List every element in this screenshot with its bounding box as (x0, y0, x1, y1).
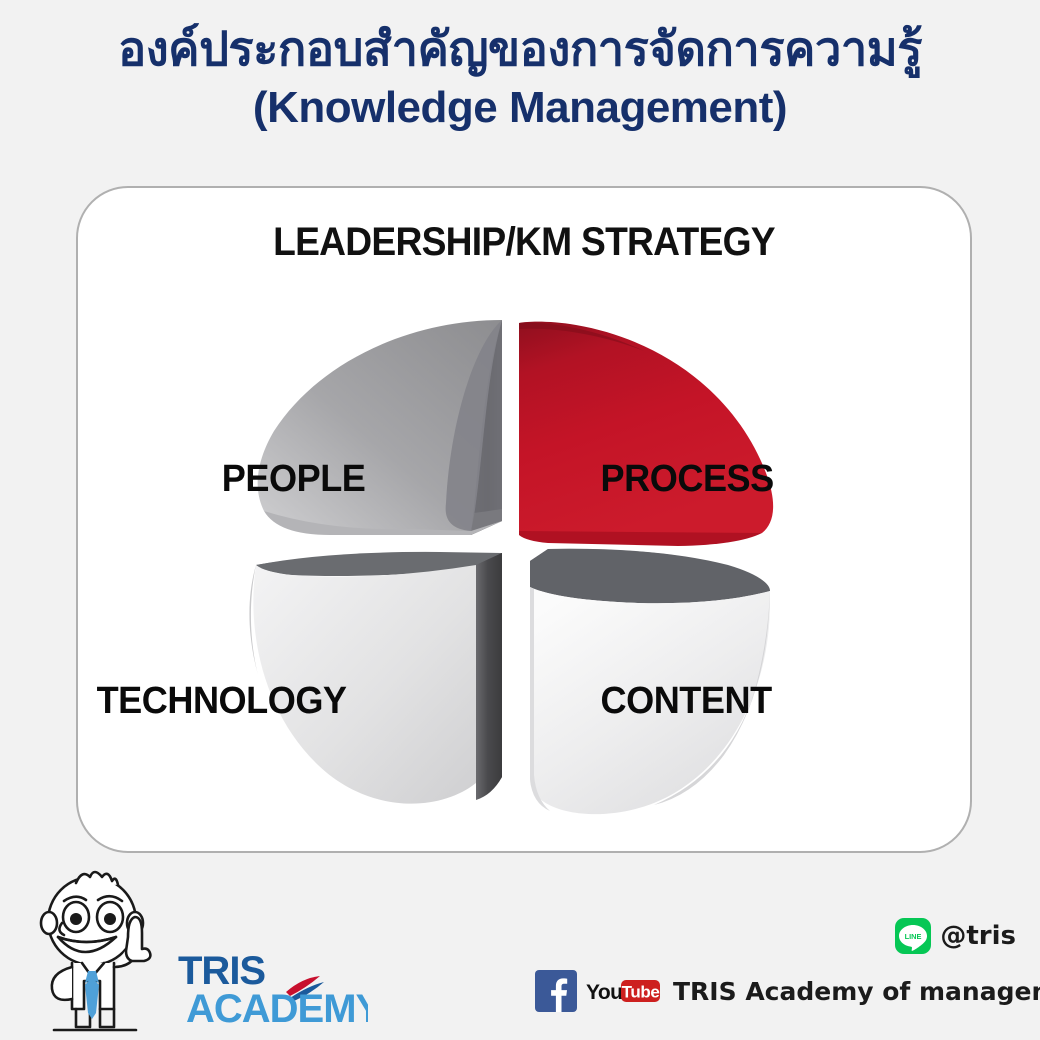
social-page-name: TRIS Academy of management (673, 977, 1040, 1006)
line-contact[interactable]: LINE @tris (895, 918, 1016, 954)
youtube-tube-text: Tube (622, 983, 660, 1002)
km-quadrant-diagram (78, 303, 974, 823)
footer: TRIS ACADEMY LINE @tris You Tube TRIS Ac… (0, 853, 1040, 1040)
logo-text-academy: ACADEMY (186, 987, 368, 1030)
line-handle-text: @tris (940, 921, 1016, 951)
diagram-card: LEADERSHIP/KM STRATEGY (76, 186, 972, 853)
page-title: องค์ประกอบสำคัญของการจัดการความรู้ (Know… (0, 22, 1040, 135)
mascot-icon (24, 863, 176, 1035)
quadrant-label-process: PROCESS (601, 458, 774, 501)
quadrant-process (519, 322, 773, 546)
tris-academy-logo: TRIS ACADEMY (174, 948, 368, 1030)
line-icon[interactable]: LINE (895, 918, 931, 954)
quadrant-technology (249, 552, 502, 804)
social-links[interactable]: You Tube TRIS Academy of management (535, 970, 1040, 1012)
card-heading: LEADERSHIP/KM STRATEGY (109, 220, 939, 265)
quadrant-label-people: PEOPLE (222, 458, 366, 501)
line-icon-label: LINE (905, 932, 922, 941)
facebook-icon[interactable] (535, 970, 577, 1012)
quadrant-people (258, 320, 502, 535)
youtube-icon[interactable]: You Tube (585, 976, 661, 1006)
quadrant-label-technology: TECHNOLOGY (97, 680, 347, 723)
quadrant-label-content: CONTENT (601, 680, 772, 723)
page-title-english: (Knowledge Management) (0, 81, 1040, 135)
page-title-thai: องค์ประกอบสำคัญของการจัดการความรู้ (0, 22, 1040, 77)
youtube-you-text: You (586, 981, 622, 1004)
